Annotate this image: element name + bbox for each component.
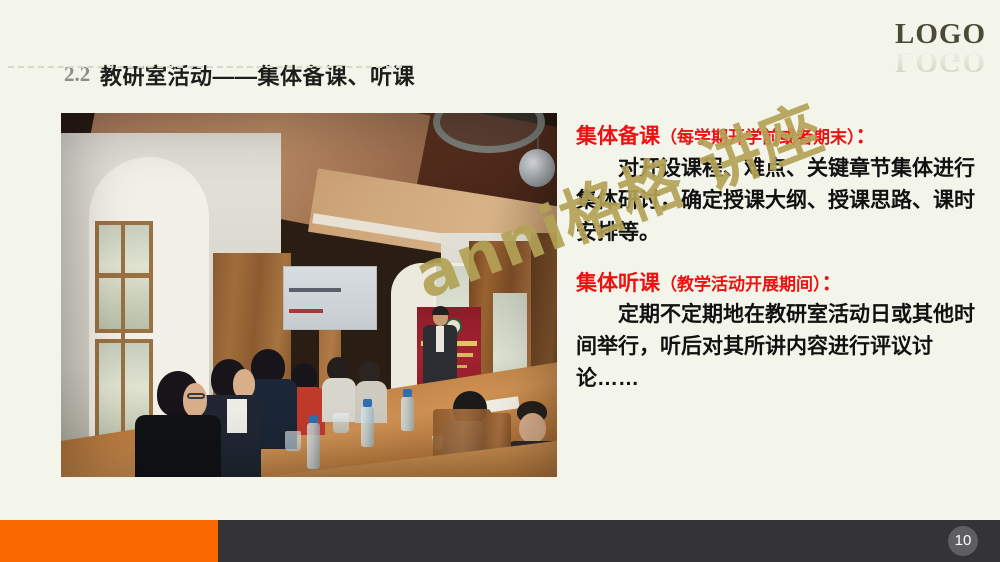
content-block-group-lesson-prep: 集体备课（每学期开学前或者期末）： 对开设课程、难点、关键章节集体进行集体研讨，… <box>576 124 988 249</box>
footer-bar <box>218 520 1000 562</box>
footer-accent-block <box>0 520 218 562</box>
attendee-glasses <box>187 393 205 399</box>
bottle-body <box>361 407 374 447</box>
bottle-body <box>307 423 320 469</box>
block2-heading: 集体听课（教学活动开展期间）： <box>576 271 988 298</box>
block1-heading: 集体备课（每学期开学前或者期末）： <box>576 124 988 151</box>
page-number-badge: 10 <box>948 526 978 556</box>
logo: LOGO LOGO <box>890 20 986 72</box>
water-bottle <box>361 399 374 447</box>
bottle-cap <box>403 389 412 397</box>
slide-header: 2.2 教研室活动——集体备课、听课 <box>0 26 1000 68</box>
bottle-cap <box>309 415 318 423</box>
content-text-column: 集体备课（每学期开学前或者期末）： 对开设课程、难点、关键章节集体进行集体研讨，… <box>576 124 988 395</box>
block2-heading-main: 集体听课 <box>576 272 660 295</box>
water-bottle <box>307 415 320 469</box>
block1-heading-sub: （每学期开学前或者期末） <box>660 128 856 147</box>
bottle-cap <box>363 399 372 407</box>
block1-heading-main: 集体备课 <box>576 125 660 148</box>
content-block-group-observation: 集体听课（教学活动开展期间）： 定期不定期地在教研室活动日或其他时间举行，听后对… <box>576 271 988 396</box>
block2-paragraph: 定期不定期地在教研室活动日或其他时间举行，听后对其所讲内容进行评议讨论…… <box>576 299 988 395</box>
presenter-shirt <box>436 326 444 352</box>
block1-paragraph: 对开设课程、难点、关键章节集体进行集体研讨，确定授课大纲、授课思路、课时安排等。 <box>576 153 988 249</box>
title-divider <box>8 66 402 68</box>
attendee-face <box>183 383 207 417</box>
water-bottle <box>401 389 414 431</box>
logo-reflection: LOGO <box>890 47 986 76</box>
drinking-glass <box>285 431 301 451</box>
attendee-body <box>135 415 221 477</box>
meeting-room-photo <box>61 113 557 477</box>
projection-text-line-1 <box>289 288 341 292</box>
page-title: 教研室活动——集体备课、听课 <box>100 59 415 91</box>
slide-footer: 10 <box>0 520 1000 562</box>
block1-heading-colon: ： <box>856 125 877 148</box>
projection-text-line-2 <box>289 309 323 313</box>
block2-heading-sub: （教学活动开展期间） <box>660 275 822 294</box>
projection-screen <box>283 266 377 330</box>
chandelier-orb <box>519 149 555 187</box>
block2-heading-colon: ： <box>822 272 843 295</box>
attendee-face <box>519 413 546 443</box>
logo-text: LOGO <box>890 20 986 49</box>
attendee-shirt <box>227 399 247 433</box>
presentation-slide: 2.2 教研室活动——集体备课、听课 LOGO LOGO <box>0 0 1000 562</box>
drinking-glass <box>333 413 349 433</box>
bottle-body <box>401 397 414 431</box>
window-mullion-vertical <box>121 221 125 457</box>
